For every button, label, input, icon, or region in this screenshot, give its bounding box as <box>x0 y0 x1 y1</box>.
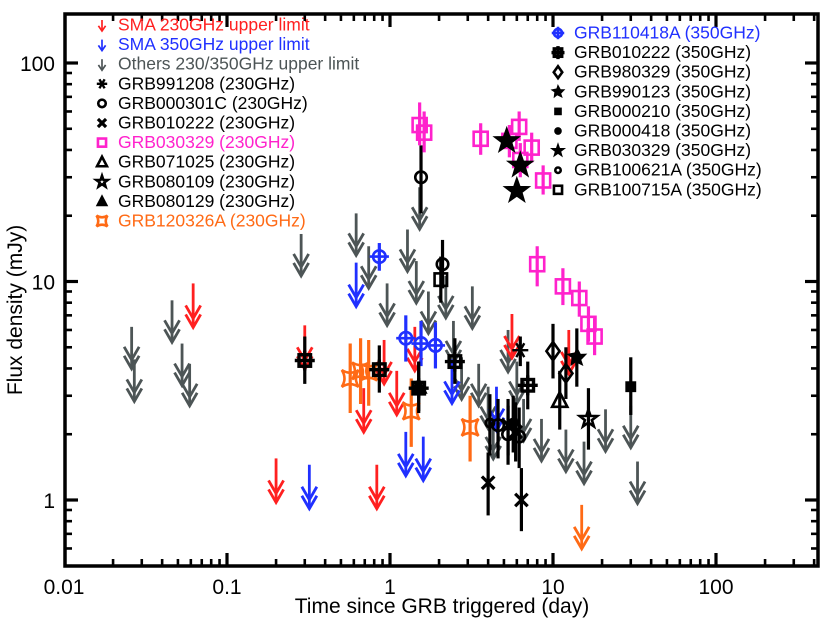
legend-label: GRB071025 (230GHz) <box>118 152 295 172</box>
marker-square-filled <box>555 108 561 114</box>
chart-svg: 0.010.1110100100101 Time since GRB trigg… <box>0 0 830 623</box>
legend-label: GRB120326A (230GHz) <box>118 211 306 231</box>
series <box>495 128 533 201</box>
legend-label: GRB010222 (350GHz) <box>574 42 751 62</box>
legend-label: GRB000210 (350GHz) <box>574 101 751 121</box>
marker-diamond-open <box>554 66 563 78</box>
legend-item: SMA 230GHz upper limit <box>98 15 309 35</box>
legend-label: GRB980329 (350GHz) <box>574 62 751 82</box>
legend-label: GRB990123 (350GHz) <box>574 81 751 101</box>
legend-item: GRB991208 (230GHz) <box>97 73 295 93</box>
y-axis-label: Flux density (mJy) <box>4 225 27 395</box>
marker-triangle-open <box>97 157 107 167</box>
legend-left: SMA 230GHz upper limitSMA 350GHz upper l… <box>96 15 359 231</box>
legend-item: GRB030329 (350GHz) <box>552 140 751 160</box>
legend-label: GRB991208 (230GHz) <box>118 73 295 93</box>
legend-item: GRB100621A (350GHz) <box>555 160 761 180</box>
x-tick-label: 0.01 <box>44 576 85 599</box>
legend-item: GRB110418A (350GHz) <box>552 23 761 43</box>
marker-star-filled <box>505 178 529 201</box>
marker-square-filled <box>626 382 635 391</box>
marker-circle-filled <box>555 128 561 134</box>
legend-label: SMA 350GHz upper limit <box>118 34 310 54</box>
y-tick-label: 1 <box>43 490 55 513</box>
marker-triangle-filled <box>97 196 107 206</box>
series <box>574 505 589 549</box>
legend-label: GRB030329 (350GHz) <box>574 140 751 160</box>
legend-item: GRB010222 (230GHz) <box>98 113 295 133</box>
legend-label: GRB030329 (230GHz) <box>118 132 295 152</box>
legend-item: GRB030329 (230GHz) <box>98 132 295 152</box>
figure-canvas: 0.010.1110100100101 Time since GRB trigg… <box>0 0 830 623</box>
legend-item: GRB000210 (350GHz) <box>555 101 751 121</box>
marker-circle-filled <box>509 418 518 427</box>
marker-square-open <box>98 139 106 147</box>
legend-item: GRB080109 (230GHz) <box>96 171 295 191</box>
x-tick-label: 0.1 <box>212 576 241 599</box>
legend-label: GRB100715A (350GHz) <box>574 179 762 199</box>
series <box>580 388 598 449</box>
y-tick-label: 10 <box>32 272 55 295</box>
series <box>626 357 635 415</box>
legend-label: GRB000418 (350GHz) <box>574 121 751 141</box>
marker-pinwheel <box>552 86 563 97</box>
legend-item: GRB080129 (230GHz) <box>97 191 295 211</box>
marker-circle-open <box>98 100 105 107</box>
legend-item: GRB071025 (230GHz) <box>97 152 295 172</box>
legend-item: GRB990123 (350GHz) <box>552 81 751 101</box>
legend-item: Others 230/350GHz upper limit <box>98 54 359 74</box>
marker-astroid <box>97 216 108 227</box>
legend-label: GRB010222 (230GHz) <box>118 113 295 133</box>
marker-square-open <box>554 186 562 194</box>
marker-star-filled <box>552 145 563 156</box>
legend-label: GRB080129 (230GHz) <box>118 191 295 211</box>
legend-label: GRB000301C (230GHz) <box>118 93 308 113</box>
legend-item: GRB980329 (350GHz) <box>554 62 751 82</box>
y-tick-label: 100 <box>20 53 55 76</box>
marker-star-open <box>96 176 107 187</box>
x-axis-label: Time since GRB triggered (day) <box>295 595 589 618</box>
legend-item: GRB000301C (230GHz) <box>98 93 307 113</box>
legend-item: GRB100715A (350GHz) <box>554 179 762 199</box>
legend-item: SMA 350GHz upper limit <box>98 34 309 54</box>
marker-circle-small <box>555 167 560 172</box>
legend-label: SMA 230GHz upper limit <box>118 15 310 35</box>
legend-item: GRB120326A (230GHz) <box>97 211 306 231</box>
legend-right: GRB110418A (350GHz)GRB010222 (350GHz)GRB… <box>552 23 762 200</box>
legend-item: GRB010222 (350GHz) <box>552 42 752 62</box>
legend-label: GRB080109 (230GHz) <box>118 171 295 191</box>
x-tick-label: 100 <box>698 576 733 599</box>
legend-label: GRB110418A (350GHz) <box>574 23 760 43</box>
legend-label: GRB100621A (350GHz) <box>574 160 762 180</box>
legend-label: Others 230/350GHz upper limit <box>118 54 359 74</box>
legend-item: GRB000418 (350GHz) <box>555 121 751 141</box>
